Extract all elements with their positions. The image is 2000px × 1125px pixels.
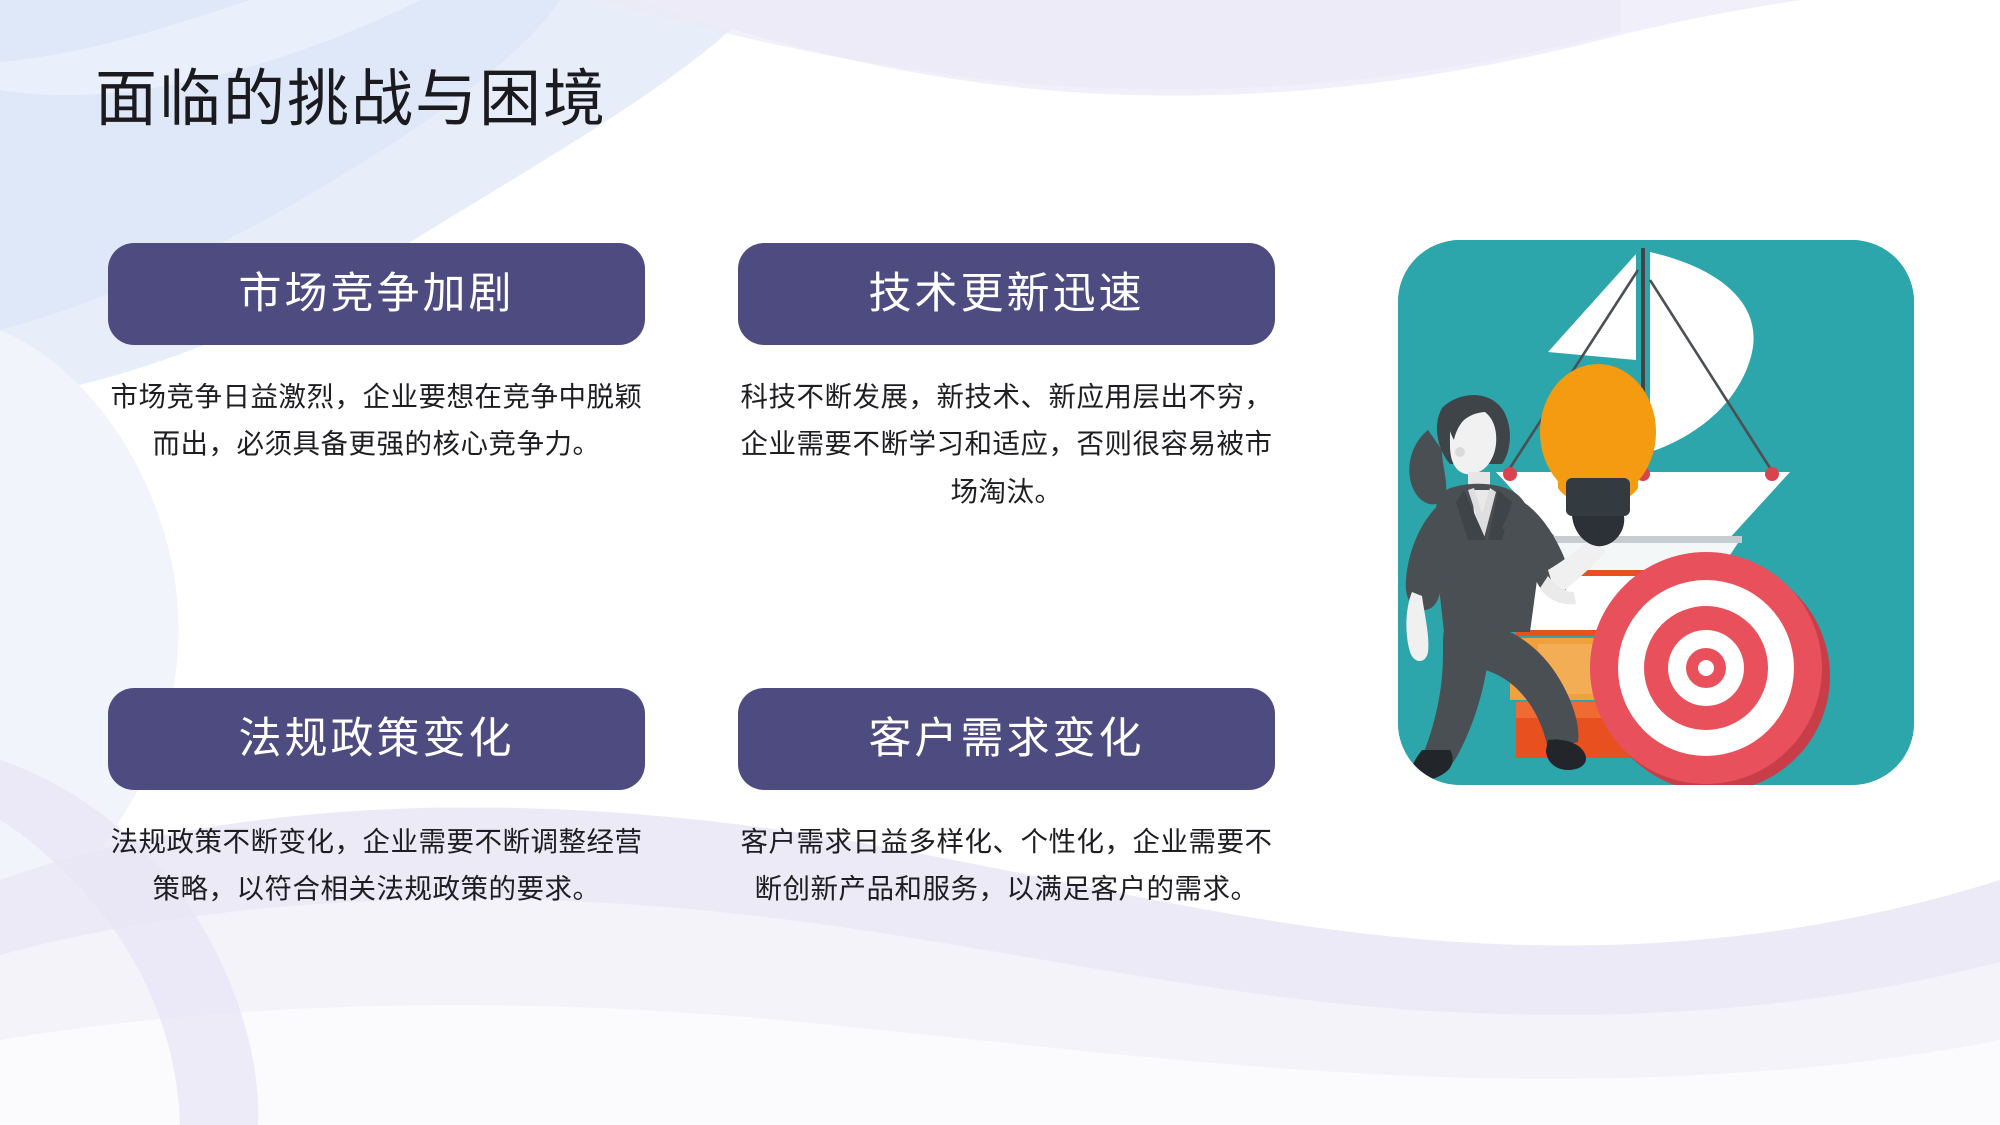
challenge-card-regulatory-policy: 法规政策变化 法规政策不断变化，企业需要不断调整经营策略，以符合相关法规政策的要… <box>108 688 645 913</box>
card-heading-label: 市场竞争加剧 <box>239 273 515 316</box>
card-heading-pill[interactable]: 法规政策变化 <box>108 688 645 790</box>
card-body-text: 市场竞争日益激烈，企业要想在竞争中脱颖而出，必须具备更强的核心竞争力。 <box>108 373 645 468</box>
card-heading-label: 客户需求变化 <box>869 718 1145 761</box>
challenge-card-customer-demand: 客户需求变化 客户需求日益多样化、个性化，企业需要不断创新产品和服务，以满足客户… <box>738 688 1275 913</box>
card-heading-pill[interactable]: 市场竞争加剧 <box>108 243 645 345</box>
challenge-card-market-competition: 市场竞争加剧 市场竞争日益激烈，企业要想在竞争中脱颖而出，必须具备更强的核心竞争… <box>108 243 645 468</box>
card-body-text: 法规政策不断变化，企业需要不断调整经营策略，以符合相关法规政策的要求。 <box>108 818 645 913</box>
card-body-text: 科技不断发展，新技术、新应用层出不穷，企业需要不断学习和适应，否则很容易被市场淘… <box>738 373 1275 515</box>
card-heading-label: 技术更新迅速 <box>869 273 1145 316</box>
card-heading-pill[interactable]: 客户需求变化 <box>738 688 1275 790</box>
challenge-card-technology-update: 技术更新迅速 科技不断发展，新技术、新应用层出不穷，企业需要不断学习和适应，否则… <box>738 243 1275 515</box>
challenge-cards-grid: 市场竞争加剧 市场竞争日益激烈，企业要想在竞争中脱颖而出，必须具备更强的核心竞争… <box>108 243 1278 1003</box>
card-body-text: 客户需求日益多样化、个性化，企业需要不断创新产品和服务，以满足客户的需求。 <box>738 818 1275 913</box>
card-heading-label: 法规政策变化 <box>239 718 515 761</box>
page-title: 面临的挑战与困境 <box>95 62 607 140</box>
illustration-panel <box>1398 240 1914 785</box>
card-heading-pill[interactable]: 技术更新迅速 <box>738 243 1275 345</box>
slide-canvas: 面临的挑战与困境 市场竞争加剧 市场竞争日益激烈，企业要想在竞争中脱颖而出，必须… <box>0 0 2000 1125</box>
